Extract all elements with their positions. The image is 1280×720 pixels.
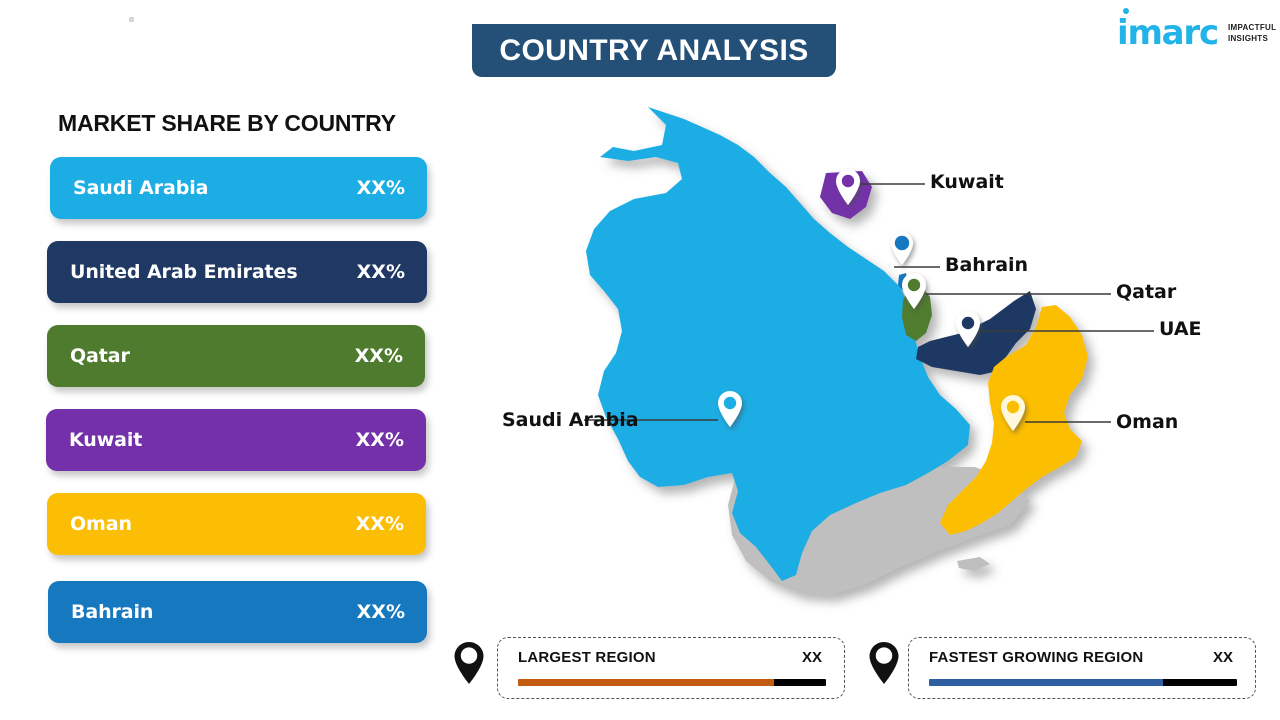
largest-region-pin-icon (452, 640, 486, 686)
map-label: Kuwait (930, 171, 1004, 193)
market-share-bar-label: Kuwait (69, 429, 142, 451)
logo-word-text: imarc (1117, 13, 1218, 53)
map-label: Saudi Arabia (502, 409, 639, 431)
page-title: COUNTRY ANALYSIS (499, 34, 808, 68)
market-share-bar-label: United Arab Emirates (70, 261, 298, 283)
market-share-bar-value: XX% (357, 177, 405, 199)
map-label: Oman (1116, 411, 1178, 433)
largest-region-progress-fill (518, 679, 774, 686)
market-share-bar-label: Saudi Arabia (73, 177, 208, 199)
market-share-bar-value: XX% (355, 345, 403, 367)
logo-tagline-line2: INSIGHTS (1228, 33, 1276, 44)
fastest-region-pin-icon (867, 640, 901, 686)
logo-wordmark: imarc (1117, 16, 1218, 50)
slide-root: COUNTRY ANALYSIS imarc IMPACTFUL INSIGHT… (0, 0, 1280, 720)
map-svg (470, 95, 1260, 625)
market-share-bar-value: XX% (357, 261, 405, 283)
market-share-bar-label: Bahrain (71, 601, 153, 623)
market-share-bar-label: Qatar (70, 345, 130, 367)
market-share-bar-value: XX% (357, 601, 405, 623)
largest-region-label: LARGEST REGION (518, 649, 656, 666)
map-label: Qatar (1116, 281, 1176, 303)
largest-region-value: XX (802, 649, 822, 666)
market-share-bar[interactable]: QatarXX% (47, 325, 425, 387)
fastest-region-box[interactable]: FASTEST GROWING REGION XX (908, 637, 1256, 699)
logo-dot-icon (1123, 8, 1129, 14)
map-pin-bahrain[interactable] (891, 232, 913, 265)
market-share-bar-value: XX% (356, 513, 404, 535)
fastest-region-progress-rest (1163, 679, 1237, 686)
logo-tagline: IMPACTFUL INSIGHTS (1228, 22, 1276, 44)
fastest-region-progress-fill (929, 679, 1163, 686)
largest-region-progress (518, 679, 826, 686)
fastest-region-label: FASTEST GROWING REGION (929, 649, 1143, 666)
market-share-bar-label: Oman (70, 513, 132, 535)
market-share-heading: MARKET SHARE BY COUNTRY (58, 110, 396, 137)
map-label: Bahrain (945, 254, 1028, 276)
region-map (470, 95, 1260, 625)
market-share-bar[interactable]: KuwaitXX% (46, 409, 426, 471)
market-share-bar-value: XX% (356, 429, 404, 451)
fastest-region-value: XX (1213, 649, 1233, 666)
largest-region-box[interactable]: LARGEST REGION XX (497, 637, 845, 699)
market-share-bar[interactable]: United Arab EmiratesXX% (47, 241, 427, 303)
map-shape-socotra (957, 557, 990, 571)
market-share-bar[interactable]: Saudi ArabiaXX% (50, 157, 427, 219)
page-title-banner: COUNTRY ANALYSIS (472, 24, 836, 77)
image-artifact (129, 17, 134, 22)
fastest-region-progress (929, 679, 1237, 686)
market-share-bar[interactable]: OmanXX% (47, 493, 426, 555)
map-label: UAE (1159, 318, 1202, 340)
market-share-bar[interactable]: BahrainXX% (48, 581, 427, 643)
imarc-logo: imarc IMPACTFUL INSIGHTS (1117, 12, 1269, 54)
logo-tagline-line1: IMPACTFUL (1228, 22, 1276, 33)
largest-region-progress-rest (774, 679, 826, 686)
